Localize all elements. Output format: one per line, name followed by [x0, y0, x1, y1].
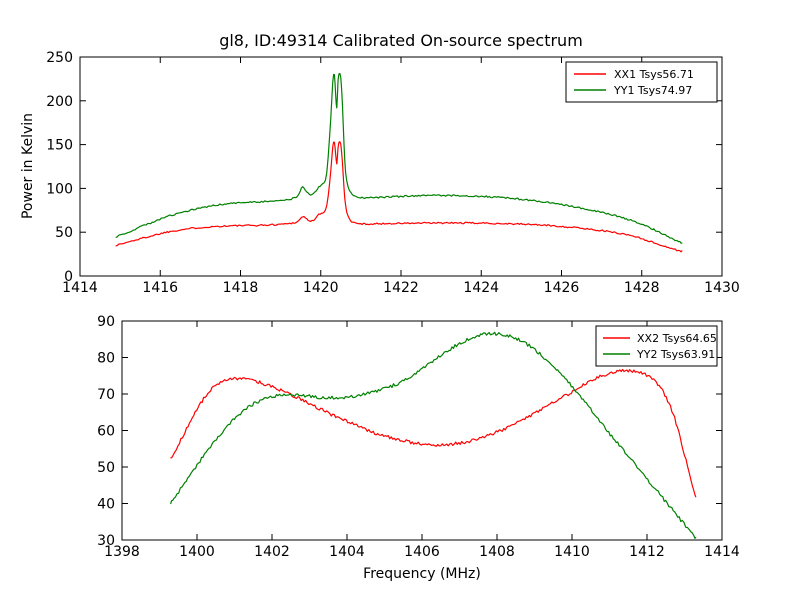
bottom-xtick-1414: 1414: [704, 544, 740, 560]
bottom-legend: XX2 Tsys64.65 YY2 Tsys63.91: [596, 326, 717, 366]
bottom-xtick-1410: 1410: [554, 544, 590, 560]
top-legend-label-yy1: YY1 Tsys74.97: [613, 84, 692, 97]
bottom-xtick-1406: 1406: [404, 544, 440, 560]
bottom-ytick-90: 90: [97, 314, 115, 330]
top-legend: XX1 Tsys56.71 YY1 Tsys74.97: [566, 62, 717, 102]
bottom-ytick-50: 50: [97, 460, 115, 476]
bottom-xtick-1398: 1398: [104, 544, 140, 560]
top-ytick-250: 250: [46, 50, 73, 66]
bottom-xtick-1404: 1404: [329, 544, 365, 560]
top-xtick-1414: 1414: [62, 280, 98, 296]
top-xtick-1424: 1424: [463, 280, 499, 296]
top-xtick-1426: 1426: [544, 280, 580, 296]
bottom-legend-label-yy2: YY2 Tsys63.91: [636, 348, 715, 361]
bottom-ytick-40: 40: [97, 497, 115, 513]
top-xtick-1418: 1418: [223, 280, 259, 296]
top-ytick-100: 100: [46, 181, 73, 197]
top-ytick-50: 50: [55, 225, 73, 241]
bottom-xtick-1412: 1412: [629, 544, 665, 560]
top-ytick-150: 150: [46, 138, 73, 154]
bottom-xtick-1400: 1400: [179, 544, 215, 560]
top-xtick-1422: 1422: [383, 280, 419, 296]
bottom-xtick-1402: 1402: [254, 544, 290, 560]
top-y-axis-label: Power in Kelvin: [20, 113, 36, 219]
bottom-ytick-60: 60: [97, 424, 115, 440]
bottom-xtick-1408: 1408: [479, 544, 515, 560]
top-xtick-1420: 1420: [303, 280, 339, 296]
spectrum-figure: gl8, ID:49314 Calibrated On-source spect…: [0, 0, 800, 600]
top-ytick-200: 200: [46, 94, 73, 110]
bottom-ytick-80: 80: [97, 351, 115, 367]
top-xtick-1430: 1430: [704, 280, 740, 296]
bottom-ytick-70: 70: [97, 387, 115, 403]
bottom-x-axis-label: Frequency (MHz): [363, 566, 481, 582]
figure-canvas: gl8, ID:49314 Calibrated On-source spect…: [0, 0, 800, 600]
bottom-legend-label-xx2: XX2 Tsys64.65: [637, 332, 717, 345]
page-title: gl8, ID:49314 Calibrated On-source spect…: [219, 31, 583, 50]
top-xtick-1428: 1428: [624, 280, 660, 296]
top-xtick-1416: 1416: [142, 280, 178, 296]
top-legend-label-xx1: XX1 Tsys56.71: [614, 68, 694, 81]
